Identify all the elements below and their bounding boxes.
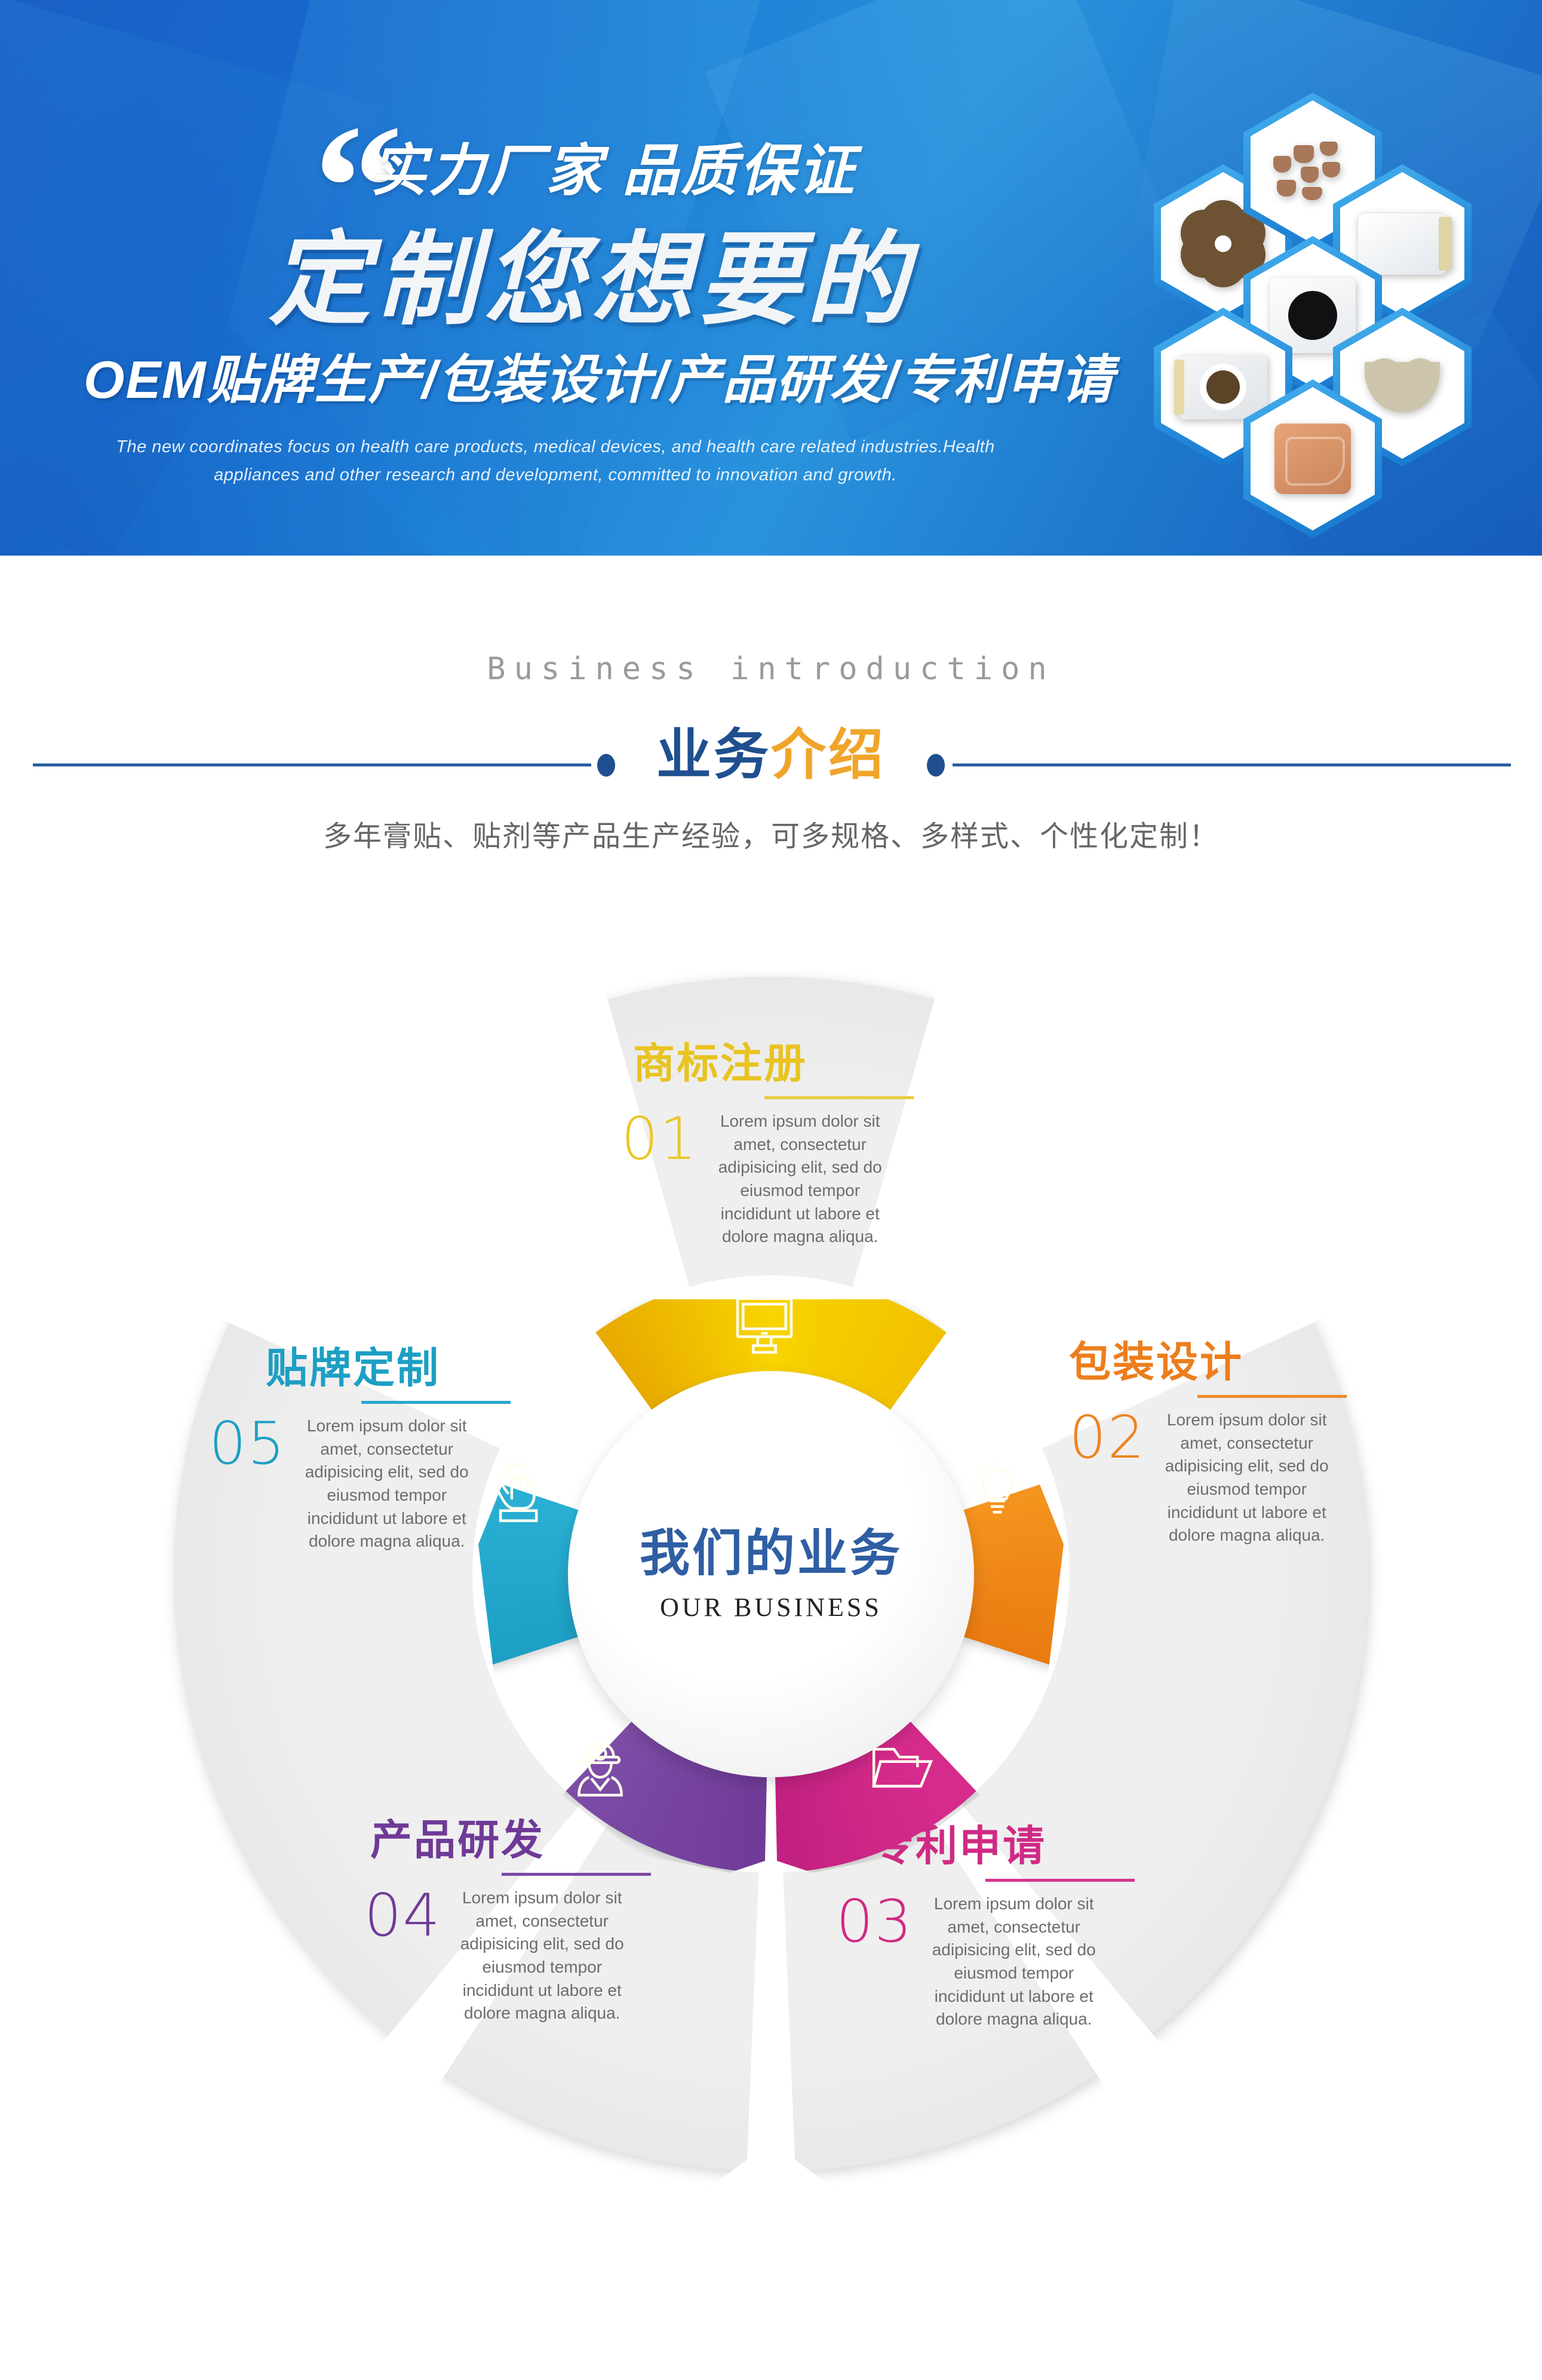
wheel-item-04-underline: [502, 1873, 651, 1876]
center-hub: 我们的业务 OUR BUSINESS: [568, 1371, 974, 1777]
wheel-item-02-body: Lorem ipsum dolor sit amet, consectetur …: [1160, 1409, 1334, 1547]
banner-services-line: OEM贴牌生产/包装设计/产品研发/专利申请: [84, 338, 1114, 413]
product-image-herbal-chips: [1271, 138, 1354, 207]
banner-description: The new coordinates focus on health care…: [107, 433, 1003, 489]
wheel-item-03-underline: [985, 1879, 1135, 1882]
wheel-item-02-title: 包装设计: [1069, 1341, 1403, 1383]
section-dot-right: [927, 754, 945, 777]
wheel-item-03-title: 专利申请: [836, 1825, 1171, 1867]
wheel-item-05-underline: [361, 1401, 511, 1404]
wheel-item-01-body: Lorem ipsum dolor sit amet, consectetur …: [714, 1110, 887, 1249]
section-rule-right: [953, 763, 1511, 766]
section-eyebrow: Business introduction: [0, 651, 1542, 687]
wheel-item-02-underline: [1197, 1395, 1347, 1398]
wheel-item-03-body: Lorem ipsum dolor sit amet, consectetur …: [927, 1893, 1101, 2031]
wheel-item-04[interactable]: 产品研发 04 Lorem ipsum dolor sit amet, cons…: [364, 1819, 699, 2025]
section-title-blue: 业务: [656, 725, 771, 786]
section-title-orange: 介绍: [771, 725, 886, 786]
wheel-item-01-title: 商标注册: [621, 1042, 956, 1084]
product-image-navel-patch: [1179, 355, 1267, 419]
center-title-en: OUR BUSINESS: [660, 1592, 882, 1623]
wheel-item-03[interactable]: 专利申请 03 Lorem ipsum dolor sit amet, cons…: [836, 1825, 1171, 2031]
wheel-item-01[interactable]: 商标注册 01 Lorem ipsum dolor sit amet, cons…: [621, 1042, 956, 1249]
product-image-white-patch: [1357, 213, 1447, 275]
wheel-item-05[interactable]: 贴牌定制 05 Lorem ipsum dolor sit amet, cons…: [209, 1347, 543, 1553]
wheel-item-04-number: 04: [364, 1887, 441, 1945]
wheel-item-04-title: 产品研发: [364, 1819, 699, 1861]
wheel-item-01-underline: [764, 1096, 914, 1099]
banner-tagline: 实力厂家 品质保证: [370, 125, 856, 207]
wheel-item-02-number: 02: [1069, 1409, 1146, 1467]
wheel-item-01-number: 01: [621, 1110, 698, 1168]
section-title: 业务介绍: [0, 728, 1542, 783]
wheel-item-03-number: 03: [836, 1893, 913, 1951]
wheel-item-02[interactable]: 包装设计 02 Lorem ipsum dolor sit amet, cons…: [1069, 1341, 1403, 1547]
product-hexagon-cluster: [1087, 87, 1505, 541]
product-image-flower-patch: [1192, 213, 1254, 275]
wheel-item-05-body: Lorem ipsum dolor sit amet, consectetur …: [300, 1415, 474, 1553]
wheel-item-05-number: 05: [209, 1415, 286, 1473]
wheel-item-04-body: Lorem ipsum dolor sit amet, consectetur …: [456, 1887, 629, 2025]
product-image-peach-patch: [1274, 424, 1351, 494]
monitor-icon: [729, 1287, 800, 1359]
section-subtitle: 多年膏贴、贴剂等产品生产经验，可多规格、多样式、个性化定制！: [0, 812, 1542, 854]
banner-headline: 定制您想要的: [269, 197, 914, 344]
product-image-heart-patch: [1365, 362, 1440, 412]
worker-helmet-icon: [564, 1732, 636, 1804]
center-title-cn: 我们的业务: [640, 1526, 902, 1581]
hero-banner: “ 实力厂家 品质保证 定制您想要的 OEM贴牌生产/包装设计/产品研发/专利申…: [0, 0, 1542, 556]
folder-icon: [866, 1732, 938, 1804]
wheel-item-05-title: 贴牌定制: [209, 1347, 543, 1389]
lightbulb-icon: [962, 1452, 1033, 1523]
